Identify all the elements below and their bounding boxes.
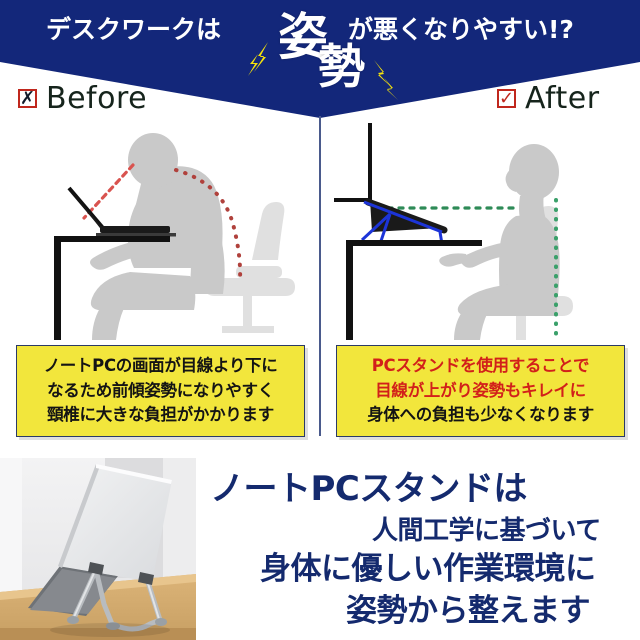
bottom-marketing-text: ノートPCスタンドは 人間工学に基づいて 身体に優しい作業環境に 姿勢から整えま… bbox=[196, 462, 640, 640]
callout-line: 身体への負担も少なくなります bbox=[367, 404, 594, 426]
x-mark-icon: ✗ bbox=[20, 91, 35, 106]
before-illustration-panel bbox=[0, 120, 320, 340]
check-mark-icon: ✓ bbox=[499, 91, 514, 106]
callout-line: なるため前傾姿勢になりやすく bbox=[47, 380, 274, 402]
callout-line: PCスタンドを使用することで bbox=[372, 355, 590, 377]
callout-line: 頸椎に大きな負担がかかります bbox=[47, 404, 274, 426]
before-label-text: Before bbox=[46, 81, 147, 116]
before-label: ✗ Before bbox=[18, 81, 147, 116]
bottom-line-3: 身体に優しい作業環境に bbox=[260, 554, 596, 585]
after-label-text: After bbox=[525, 81, 600, 116]
bottom-line-2: 人間工学に基づいて bbox=[372, 518, 601, 544]
after-label: ✓ After bbox=[497, 81, 600, 116]
after-callout-box: PCスタンドを使用することで 目線が上がり姿勢もキレイに 身体への負担も少なくな… bbox=[336, 345, 625, 437]
sightline-indicator bbox=[84, 165, 133, 218]
center-divider bbox=[319, 116, 321, 436]
callout-line: ノートPCの画面が目線より下に bbox=[44, 355, 278, 377]
laptop-on-stand-photo bbox=[0, 458, 196, 640]
before-callout-box: ノートPCの画面が目線より下に なるため前傾姿勢になりやすく 頸椎に大きな負担が… bbox=[16, 345, 305, 437]
bottom-line-1: ノートPCスタンドは bbox=[210, 472, 527, 506]
before-checkbox-icon: ✗ bbox=[18, 89, 37, 108]
after-checkbox-icon: ✓ bbox=[497, 89, 516, 108]
infographic-root: デスクワークは が悪くなりやすい!? 姿 勢 ✗ Before ✓ After bbox=[0, 0, 640, 640]
after-illustration-panel bbox=[320, 120, 640, 340]
lightning-bolt-left bbox=[246, 40, 286, 80]
lightning-bolt-right bbox=[366, 56, 406, 100]
callout-line: 目線が上がり姿勢もキレイに bbox=[375, 380, 586, 402]
bottom-line-4: 姿勢から整えます bbox=[346, 596, 590, 627]
